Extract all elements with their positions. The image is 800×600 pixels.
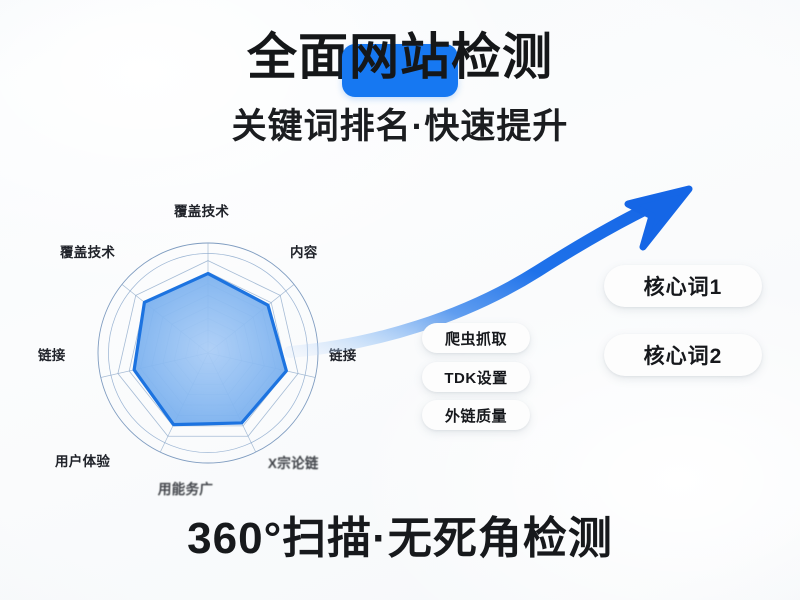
process-pill-3[interactable]: 外链质量 (422, 400, 530, 430)
title-highlight: 网站 (349, 30, 451, 84)
poster-canvas: 全面网站检测 关键词排名·快速提升 覆盖技术内容链接X宗论链用能务广用户体验 (0, 0, 800, 600)
process-pill-1[interactable]: 爬虫抓取 (422, 323, 530, 353)
arrow-head (628, 189, 689, 247)
radar-axis-label-6: 链接 (38, 344, 66, 364)
radar-axis-label-0: 覆盖技术 (174, 200, 229, 220)
title-segment-before: 全面 (247, 29, 349, 85)
footer-tagline: 360°扫描·无死角检测 (0, 502, 800, 566)
keyword-pill-1[interactable]: 核心词1 (604, 265, 762, 307)
title-segment-after: 检测 (451, 29, 553, 85)
headline-block: 全面网站检测 关键词排名·快速提升 (0, 30, 800, 149)
radar-axis-label-4: 用能务广 (158, 478, 214, 499)
radar-axis-label-2: 链接 (329, 344, 357, 364)
page-subtitle: 关键词排名·快速提升 (0, 98, 800, 149)
radar-axis-label-3: X宗论链 (268, 452, 319, 473)
radar-series (134, 274, 286, 425)
radar-axis-label-1: 内容 (290, 241, 318, 261)
process-pill-2[interactable]: TDK设置 (422, 362, 530, 392)
radar-chart-svg (38, 186, 378, 526)
radar-data-polygon (134, 274, 286, 425)
page-title: 全面网站检测 (247, 30, 553, 84)
radar-axis-label-5: 用户体验 (55, 450, 110, 470)
radar-axis-label-7: 覆盖技术 (60, 241, 115, 261)
keyword-pill-2[interactable]: 核心词2 (604, 334, 762, 376)
radar-chart: 覆盖技术内容链接X宗论链用能务广用户体验链接覆盖技术 (38, 186, 378, 526)
